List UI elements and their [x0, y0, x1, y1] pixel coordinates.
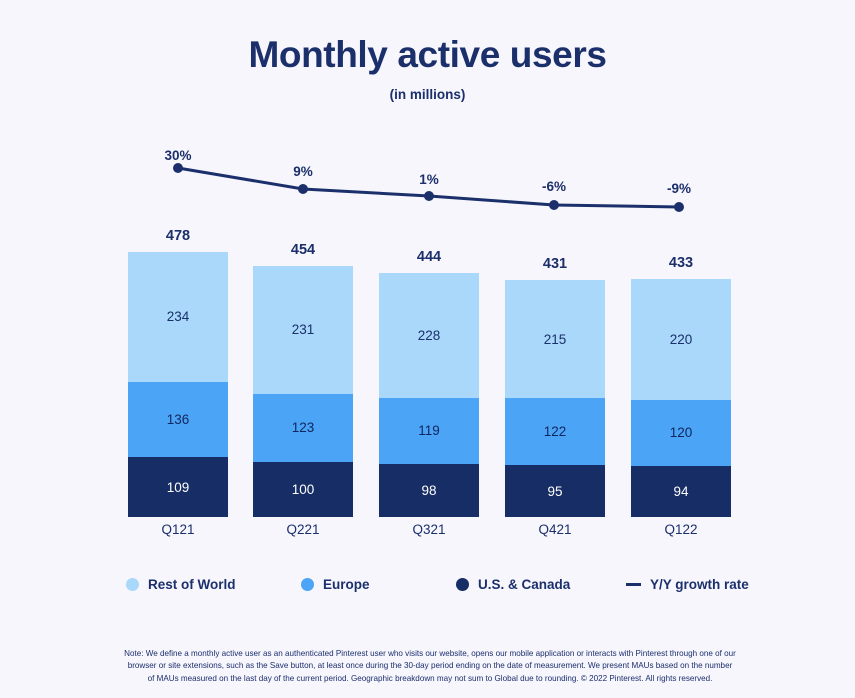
bar-segment-value: 109: [167, 480, 190, 495]
stacked-bar[interactable]: 22811998: [379, 273, 479, 517]
legend-item[interactable]: Rest of World: [126, 577, 236, 592]
bar-segment-rest-of-world[interactable]: 220: [631, 279, 731, 400]
bar-segment-value: 122: [544, 424, 567, 439]
stacked-bar[interactable]: 234136109: [128, 252, 228, 517]
footnote-line-3: of MAUs measured on the last day of the …: [115, 673, 745, 685]
bar-segment-rest-of-world[interactable]: 231: [253, 266, 353, 394]
bar-total-label: 478: [128, 228, 228, 244]
x-axis-label: Q321: [379, 522, 479, 537]
chart-footnote: Note: We define a monthly active user as…: [115, 648, 745, 685]
bar-segment-value: 100: [292, 482, 315, 497]
bar-segment-value: 123: [292, 420, 315, 435]
bar-segment-value: 119: [418, 423, 440, 438]
bar-segment-value: 98: [421, 483, 436, 498]
bar-segment-value: 228: [418, 328, 441, 343]
bar-total-label: 431: [505, 256, 605, 272]
bar-segment-value: 120: [670, 425, 693, 440]
x-axis-label: Q122: [631, 522, 731, 537]
legend-item[interactable]: U.S. & Canada: [456, 577, 570, 592]
stacked-bar[interactable]: 22012094: [631, 279, 731, 517]
legend-dot-icon: [456, 578, 469, 591]
bar-segment-rest-of-world[interactable]: 215: [505, 280, 605, 398]
bar-group: 43121512295Q421: [505, 0, 605, 560]
stacked-bar[interactable]: 231123100: [253, 266, 353, 517]
bar-segment-us-canada[interactable]: 100: [253, 462, 353, 517]
bar-segment-value: 215: [544, 332, 567, 347]
legend-label: Rest of World: [148, 577, 236, 592]
bar-segment-value: 136: [167, 412, 190, 427]
footnote-line-2: browser or site extensions, such as the …: [115, 660, 745, 672]
legend-item[interactable]: Y/Y growth rate: [626, 577, 749, 592]
bar-segment-value: 220: [670, 332, 693, 347]
bar-total-label: 444: [379, 249, 479, 265]
legend-dot-icon: [126, 578, 139, 591]
bar-segment-value: 94: [673, 484, 688, 499]
footnote-line-1: Note: We define a monthly active user as…: [115, 648, 745, 660]
bar-segment-us-canada[interactable]: 98: [379, 464, 479, 517]
bar-total-label: 454: [253, 242, 353, 258]
bar-segment-value: 231: [292, 322, 315, 337]
bar-group: 478234136109Q121: [128, 0, 228, 560]
chart-container: Monthly active users (in millions) 30%9%…: [0, 0, 855, 698]
bar-segment-rest-of-world[interactable]: 228: [379, 273, 479, 398]
legend-dot-icon: [301, 578, 314, 591]
bar-segment-rest-of-world[interactable]: 234: [128, 252, 228, 382]
bar-segment-europe[interactable]: 123: [253, 394, 353, 462]
stacked-bar[interactable]: 21512295: [505, 280, 605, 517]
legend-label: U.S. & Canada: [478, 577, 570, 592]
legend-label: Y/Y growth rate: [650, 577, 749, 592]
legend-item[interactable]: Europe: [301, 577, 370, 592]
bar-segment-us-canada[interactable]: 94: [631, 466, 731, 517]
bar-group: 43322012094Q122: [631, 0, 731, 560]
bar-group: 44422811998Q321: [379, 0, 479, 560]
bar-segment-europe[interactable]: 120: [631, 400, 731, 466]
x-axis-label: Q121: [128, 522, 228, 537]
bar-segment-europe[interactable]: 136: [128, 382, 228, 457]
x-axis-label: Q421: [505, 522, 605, 537]
legend-line-marker-icon: [626, 583, 641, 586]
bar-total-label: 433: [631, 255, 731, 271]
chart-legend: Rest of WorldEuropeU.S. & CanadaY/Y grow…: [126, 577, 746, 599]
x-axis-label: Q221: [253, 522, 353, 537]
bar-segment-us-canada[interactable]: 95: [505, 465, 605, 517]
bar-segment-europe[interactable]: 122: [505, 398, 605, 465]
legend-label: Europe: [323, 577, 370, 592]
bar-segment-us-canada[interactable]: 109: [128, 457, 228, 517]
bar-segment-value: 234: [167, 309, 190, 324]
bar-group: 454231123100Q221: [253, 0, 353, 560]
bar-segment-europe[interactable]: 119: [379, 398, 479, 463]
bar-segment-value: 95: [547, 484, 562, 499]
